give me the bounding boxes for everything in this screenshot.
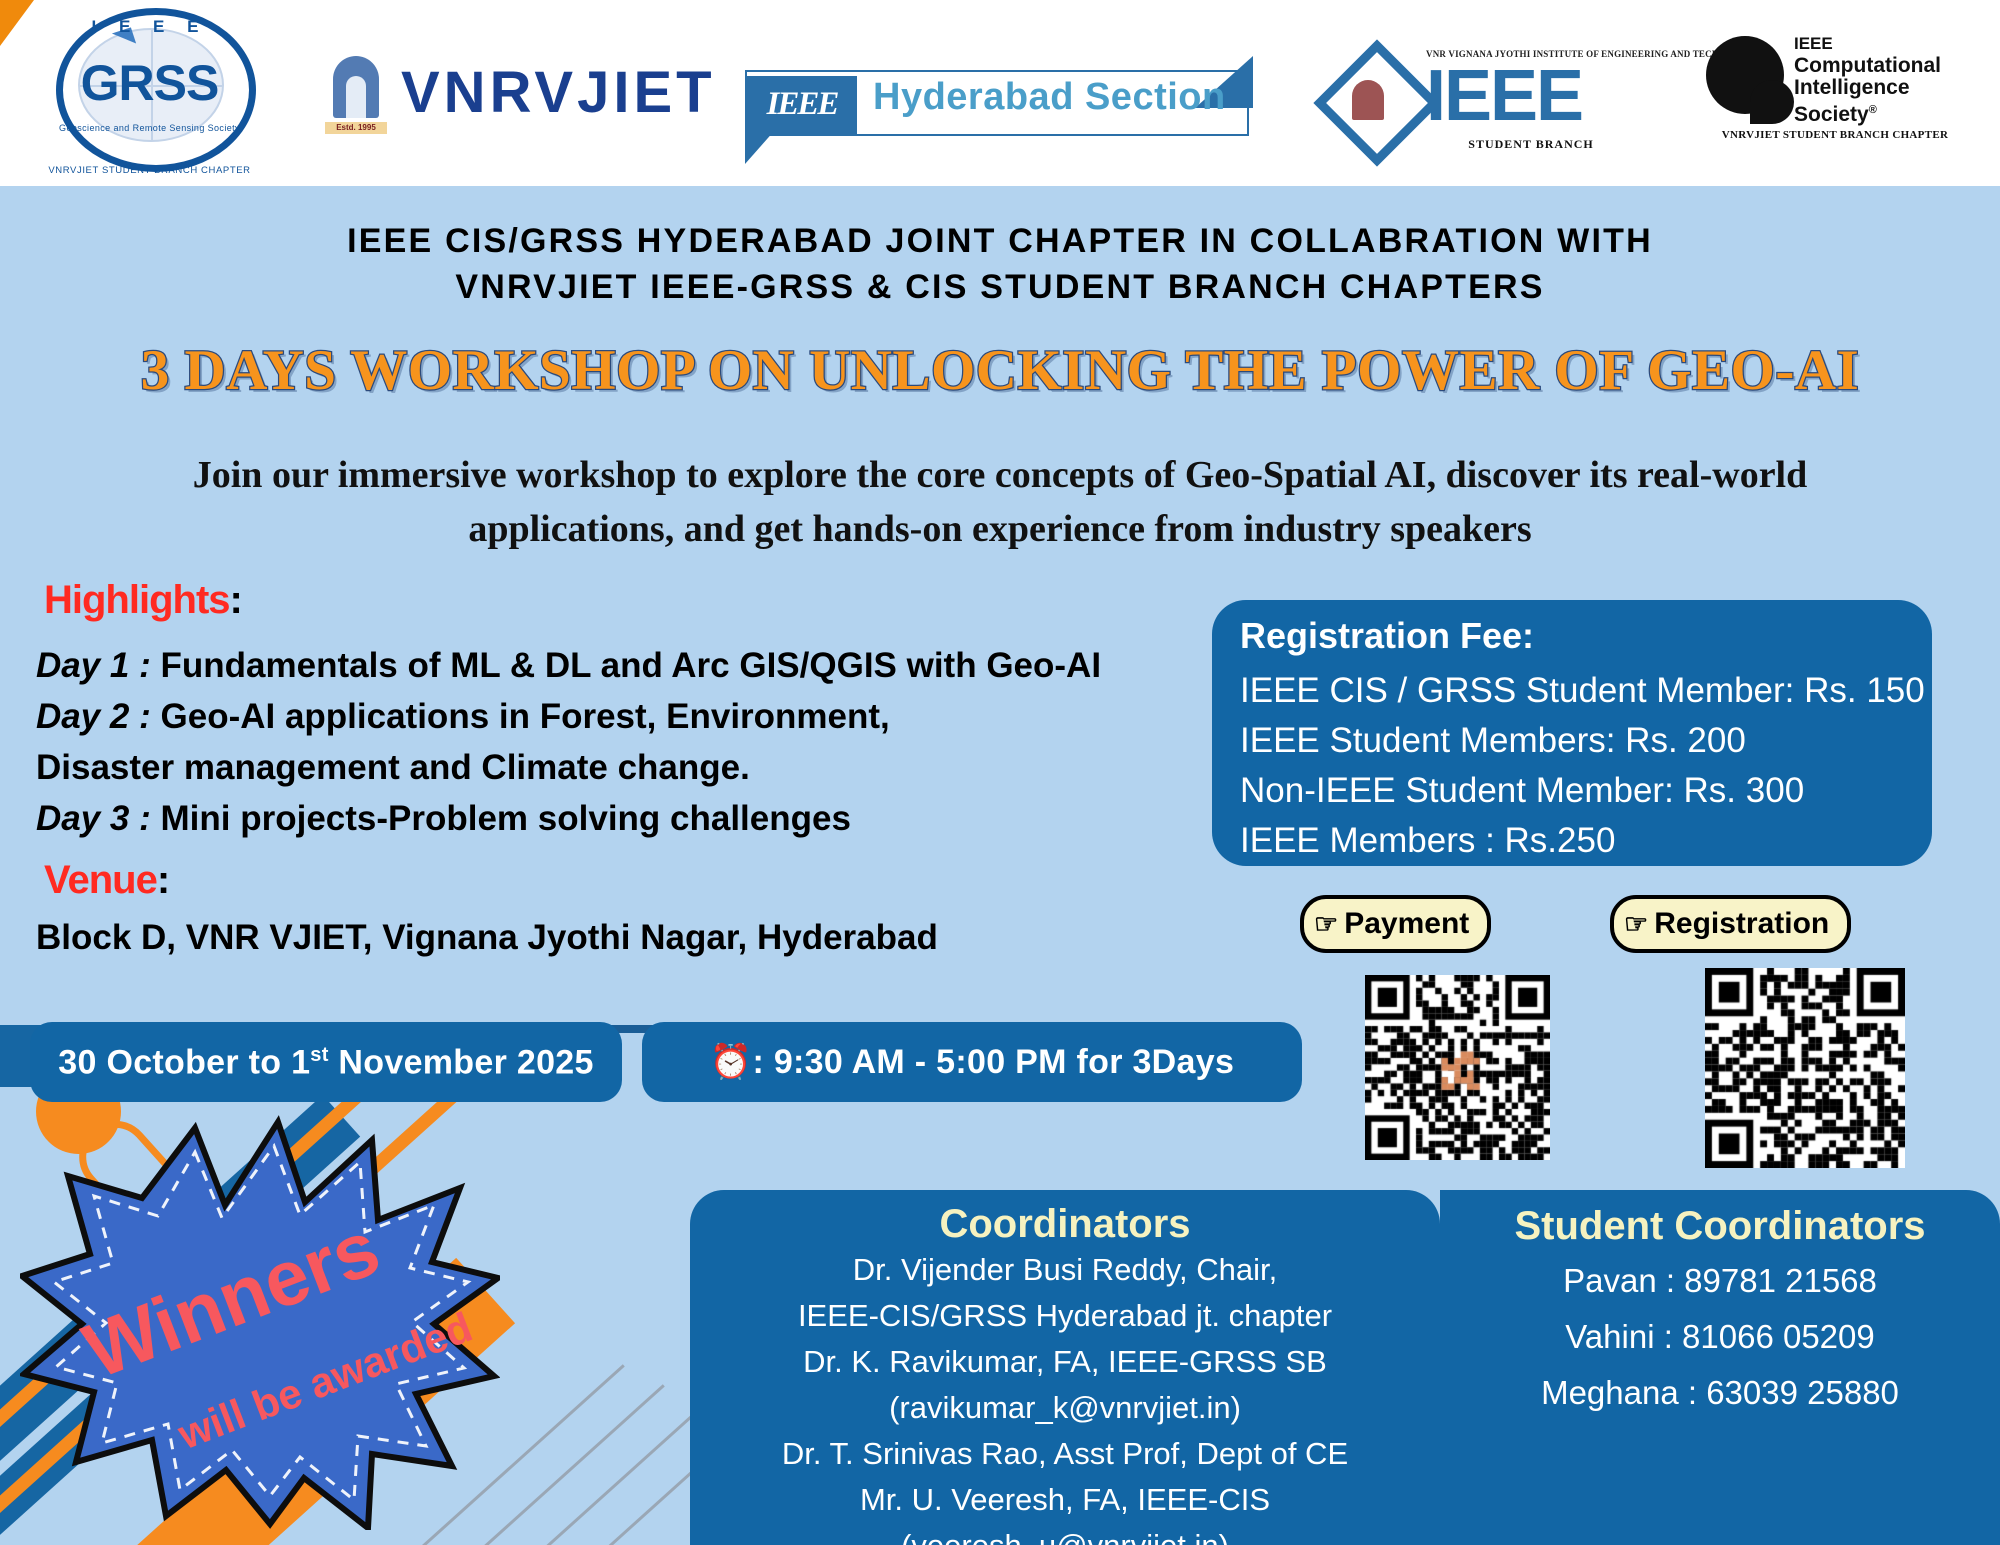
venue-address: Block D, VNR VJIET, Vignana Jyothi Nagar… [36, 920, 938, 955]
day-text: Geo-AI applications in Forest, Environme… [151, 697, 890, 736]
cis-registered-mark: ® [1869, 104, 1877, 116]
coordinator-line: Dr. T. Srinivas Rao, Asst Prof, Dept of … [690, 1434, 1440, 1474]
highlights-day-row: Day 2 : Geo-AI applications in Forest, E… [36, 691, 1196, 742]
page-title: 3 DAYS WORKSHOP ON UNLOCKING THE POWER O… [0, 342, 2000, 399]
cis-human-figure-icon [1706, 36, 1784, 114]
vnrvjiet-estd-label: Estd. 1995 [325, 122, 387, 134]
ieee-grss-logo: I E E E GRSS Geoscience and Remote Sensi… [42, 6, 257, 181]
fee-item: IEEE Student Members: Rs. 200 [1240, 716, 1925, 766]
day-label: Day 1 : [36, 646, 151, 685]
ieee-hyderabad-section-logo: IEEE Hyderabad Section [745, 56, 1255, 148]
venue-label: Venue [44, 858, 157, 902]
day-label: Day 2 : [36, 697, 151, 736]
venue-colon: : [157, 858, 170, 902]
workshop-date-badge: 30 October to 1st November 2025 [30, 1022, 622, 1102]
coordinators-panel: Coordinators Dr. Vijender Busi Reddy, Ch… [690, 1190, 1440, 1545]
corner-wedge-decoration [0, 0, 34, 46]
coordinator-email: (ravikumar_k@vnrvjiet.in) [690, 1388, 1440, 1428]
payment-button[interactable]: ☞ Payment [1300, 895, 1491, 953]
coordinator-line: IEEE-CIS/GRSS Hyderabad jt. chapter [690, 1296, 1440, 1336]
student-branch-label: STUDENT BRANCH [1426, 138, 1636, 150]
qr-button-row: ☞ Payment ☞ Registration [1300, 895, 1950, 953]
pointing-hand-icon: ☞ [1624, 911, 1648, 938]
grss-ieee-text: I E E E [42, 18, 257, 35]
workshop-poster: I E E E GRSS Geoscience and Remote Sensi… [0, 0, 2000, 1545]
registration-qr-code[interactable] [1705, 968, 1905, 1168]
vnrvjiet-wordmark: VNRVJIET [401, 64, 716, 122]
registration-button[interactable]: ☞ Registration [1610, 895, 1851, 953]
description-text: Join our immersive workshop to explore t… [40, 448, 1960, 556]
hyderabad-section-label: Hyderabad Section [873, 78, 1226, 116]
highlights-day-list: Day 1 : Fundamentals of ML & DL and Arc … [36, 640, 1196, 844]
day-label: Day 3 : [36, 799, 151, 838]
day-text: Mini projects-Problem solving challenges [151, 799, 851, 838]
student-coordinators-heading: Student Coordinators [1440, 1206, 2000, 1246]
payment-button-label: Payment [1344, 909, 1469, 939]
cis-ieee-text: IEEE [1794, 34, 1833, 53]
cis-line-society: Society [1794, 103, 1869, 126]
highlights-day-row: Disaster management and Climate change. [36, 742, 1196, 793]
cis-chapter-label: VNRVJIET STUDENT BRANCH CHAPTER [1700, 130, 1970, 141]
highlights-label: Highlights [44, 578, 230, 622]
winners-badge: Winners will be awarded [20, 1110, 500, 1530]
grss-society-text: Geoscience and Remote Sensing Society [42, 124, 257, 133]
date-prefix: 30 October to 1 [58, 1043, 310, 1081]
registration-fee-list: IEEE CIS / GRSS Student Member: Rs. 150 … [1240, 666, 1925, 866]
date-suffix: November 2025 [329, 1043, 594, 1081]
highlights-colon: : [230, 578, 243, 622]
organizer-heading: IEEE CIS/GRSS HYDERABAD JOINT CHAPTER IN… [0, 218, 2000, 310]
student-coordinators-panel: Student Coordinators Pavan : 89781 21568… [1440, 1190, 2000, 1545]
ieee-cis-logo: IEEE Computational Intelligence Society®… [1700, 20, 1970, 170]
date-ordinal-suffix: st [310, 1044, 328, 1066]
highlights-day-row: Day 1 : Fundamentals of ML & DL and Arc … [36, 640, 1196, 691]
vnrvjiet-crest-icon: Estd. 1995 [325, 52, 387, 138]
grss-chapter-text: VNRVJIET STUDENT BRANCH CHAPTER [42, 166, 257, 176]
payment-qr-code[interactable] [1365, 975, 1550, 1160]
fee-item: Non-IEEE Student Member: Rs. 300 [1240, 766, 1925, 816]
time-range-text: : 9:30 AM - 5:00 PM for 3Days [752, 1043, 1234, 1081]
vnrvjiet-logo: Estd. 1995 VNRVJIET [325, 52, 715, 148]
workshop-time-badge: ⏰: 9:30 AM - 5:00 PM for 3Days [642, 1022, 1302, 1102]
workshop-time-text: ⏰: 9:30 AM - 5:00 PM for 3Days [710, 1045, 1234, 1079]
description-line-1: Join our immersive workshop to explore t… [40, 448, 1960, 502]
student-coordinator-line: Vahini : 81066 05209 [1440, 1316, 2000, 1358]
fee-item: IEEE Members : Rs.250 [1240, 816, 1925, 866]
student-branch-ieee-text: IEEE [1426, 60, 1582, 132]
fee-item: IEEE CIS / GRSS Student Member: Rs. 150 [1240, 666, 1925, 716]
grss-wordmark: GRSS [42, 58, 257, 108]
alarm-clock-icon: ⏰ [710, 1043, 753, 1081]
pointing-hand-icon: ☞ [1314, 911, 1338, 938]
coordinator-line: Mr. U. Veeresh, FA, IEEE-CIS [690, 1480, 1440, 1520]
coordinator-line: Dr. K. Ravikumar, FA, IEEE-GRSS SB [690, 1342, 1440, 1382]
hyderabad-ieee-badge: IEEE [747, 76, 857, 134]
day-text: Disaster management and Climate change. [36, 748, 750, 787]
highlights-heading: Highlights: [44, 580, 243, 620]
venue-heading: Venue: [44, 860, 170, 900]
coordinator-email: (veeresh_u@vnrvjiet.in) [690, 1526, 1440, 1545]
cis-line-computational: Computational [1794, 54, 1941, 77]
vnrvjiet-arch-shape [333, 56, 379, 118]
registration-fee-panel: Registration Fee: IEEE CIS / GRSS Studen… [1212, 600, 1932, 866]
student-coordinator-line: Meghana : 63039 25880 [1440, 1372, 2000, 1414]
hyderabad-ieee-text: IEEE [747, 88, 857, 121]
highlights-day-row: Day 3 : Mini projects-Problem solving ch… [36, 793, 1196, 844]
cis-wordmark: IEEE Computational Intelligence Society® [1794, 32, 1970, 126]
cis-line-intelligence: Intelligence [1794, 76, 1910, 99]
coordinators-heading: Coordinators [690, 1204, 1440, 1244]
registration-fee-heading: Registration Fee: [1240, 618, 1534, 654]
organizer-heading-line-1: IEEE CIS/GRSS HYDERABAD JOINT CHAPTER IN… [0, 218, 2000, 264]
workshop-date-text: 30 October to 1st November 2025 [58, 1045, 593, 1079]
organizer-heading-line-2: VNRVJIET IEEE-GRSS & CIS STUDENT BRANCH … [0, 264, 2000, 310]
registration-button-label: Registration [1654, 909, 1829, 939]
ieee-student-branch-logo: VNR VIGNANA JYOTHI INSTITUTE OF ENGINEER… [1330, 38, 1630, 156]
hyderabad-tail-icon [745, 130, 775, 164]
student-coordinator-line: Pavan : 89781 21568 [1440, 1260, 2000, 1302]
coordinator-line: Dr. Vijender Busi Reddy, Chair, [690, 1250, 1440, 1290]
student-branch-crest-icon [1352, 80, 1384, 120]
description-line-2: applications, and get hands-on experienc… [40, 502, 1960, 556]
day-text: Fundamentals of ML & DL and Arc GIS/QGIS… [151, 646, 1101, 685]
logo-bar: I E E E GRSS Geoscience and Remote Sensi… [0, 0, 2000, 186]
